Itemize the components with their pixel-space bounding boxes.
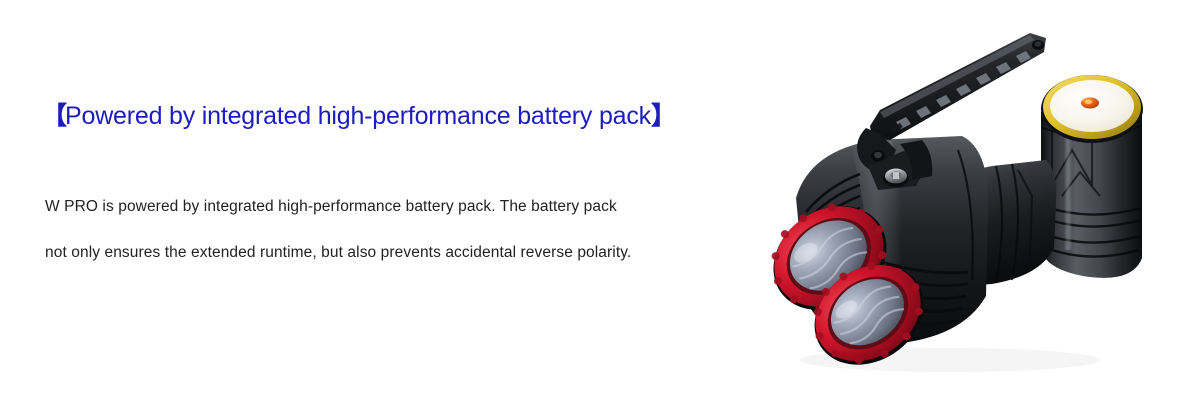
product-shadow <box>800 348 1100 372</box>
body-paragraph-line-1: W PRO is powered by integrated high-perf… <box>45 198 617 216</box>
page-title-text: Powered by integrated high-performance b… <box>65 102 651 130</box>
product-photo <box>700 0 1200 400</box>
body-paragraph-line-2: not only ensures the extended runtime, b… <box>45 244 631 262</box>
battery-pack-tailcap <box>1041 75 1143 143</box>
bracket-close-glyph: 】 <box>651 102 674 130</box>
product-feature-banner: 【Powered by integrated high-performance … <box>0 0 1200 400</box>
page-title: 【Powered by integrated high-performance … <box>42 96 674 132</box>
bracket-open-glyph: 【 <box>42 102 65 130</box>
text-column: 【Powered by integrated high-performance … <box>0 0 720 400</box>
